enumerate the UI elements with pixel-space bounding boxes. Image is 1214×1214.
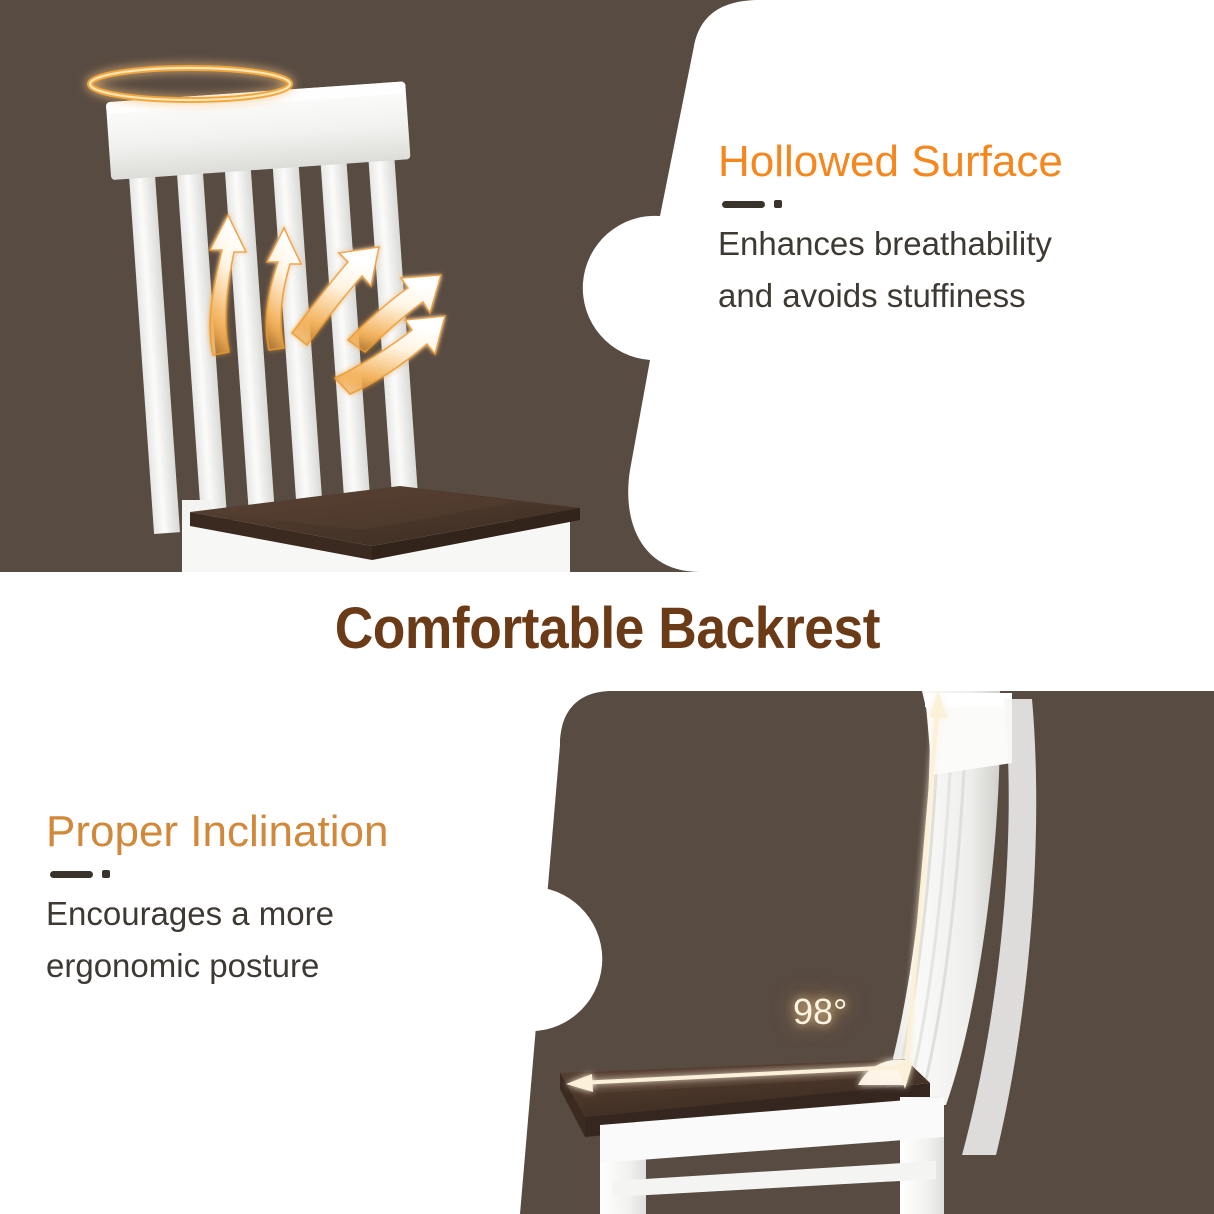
divider-bar <box>722 201 765 208</box>
divider-hollowed <box>722 200 1063 208</box>
divider-dot <box>774 200 782 208</box>
hollowed-surface-body-line-1: Enhances breathability <box>718 218 1063 269</box>
proper-inclination-body-line-1: Encourages a more <box>46 888 388 939</box>
main-title-band: Comfortable Backrest <box>0 572 1214 685</box>
divider-dot <box>102 870 110 878</box>
divider-bar <box>50 871 93 878</box>
page-title: Comfortable Backrest <box>334 595 879 662</box>
proper-inclination-heading: Proper Inclination <box>46 808 388 856</box>
hollowed-surface-section: Hollowed Surface Enhances breathability … <box>0 0 1214 572</box>
proper-inclination-text-block: Proper Inclination Encourages a more erg… <box>46 808 388 991</box>
hollowed-surface-text-block: Hollowed Surface Enhances breathability … <box>718 138 1063 321</box>
hollowed-surface-body-line-2: and avoids stuffiness <box>718 270 1063 321</box>
proper-inclination-body-line-2: ergonomic posture <box>46 940 388 991</box>
divider-inclination <box>50 870 388 878</box>
hollowed-surface-heading: Hollowed Surface <box>718 138 1063 186</box>
angle-value-label: 98° <box>793 991 847 1033</box>
